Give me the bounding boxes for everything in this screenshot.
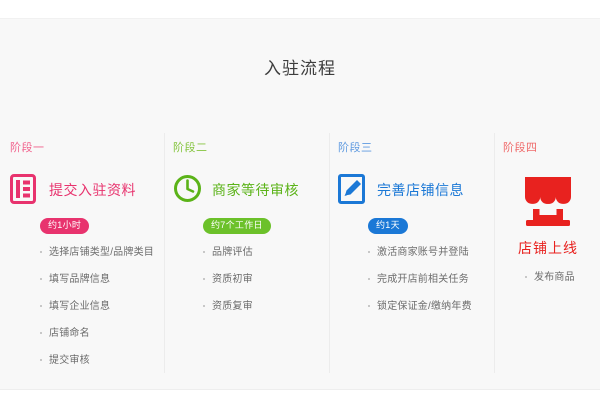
list-item: 填写企业信息 bbox=[40, 300, 164, 313]
stage-columns: 阶段一 提交入驻资料 约1小时 选择店铺类型/品牌类目 填写品牌信息 填 bbox=[0, 133, 600, 373]
stage-duration-badge-2: 约7个工作日 bbox=[203, 218, 271, 234]
page-title: 入驻流程 bbox=[0, 58, 600, 80]
stage-column-4: 阶段四 店铺上线 发布商品 bbox=[495, 133, 600, 373]
stage-column-2: 阶段二 商家等待审核 约7个工作日 品牌评估 资质初审 资质复审 bbox=[165, 133, 330, 373]
stage-column-1: 阶段一 提交入驻资料 约1小时 选择店铺类型/品牌类目 填写品牌信息 填 bbox=[0, 133, 165, 373]
stage-column-3: 阶段三 完善店铺信息 约1天 激活商家账号并登陆 完成开店前相关任务 锁定保证金… bbox=[330, 133, 495, 373]
stage-header-3: 完善店铺信息 bbox=[338, 173, 494, 207]
stage-header-2: 商家等待审核 bbox=[173, 173, 329, 207]
stage-title-2: 商家等待审核 bbox=[212, 181, 299, 199]
list-item: 激活商家账号并登陆 bbox=[368, 246, 494, 259]
list-item: 店铺命名 bbox=[40, 327, 164, 340]
stage-label-4: 阶段四 bbox=[503, 141, 600, 155]
list-item: 资质初审 bbox=[203, 273, 329, 286]
shop-icon bbox=[520, 175, 576, 229]
list-item: 填写品牌信息 bbox=[40, 273, 164, 286]
stage-task-list-4: 发布商品 bbox=[503, 271, 600, 284]
stage-label-3: 阶段三 bbox=[338, 141, 494, 155]
stage-title-4: 店铺上线 bbox=[503, 239, 593, 257]
list-item: 提交审核 bbox=[40, 354, 164, 367]
pencil-edit-icon bbox=[338, 174, 368, 206]
stage-label-2: 阶段二 bbox=[173, 141, 329, 155]
stage-header-1: 提交入驻资料 bbox=[10, 173, 164, 207]
list-item: 发布商品 bbox=[525, 271, 600, 284]
stage-task-list-3: 激活商家账号并登陆 完成开店前相关任务 锁定保证金/缴纳年费 bbox=[338, 246, 494, 313]
stage-task-list-1: 选择店铺类型/品牌类目 填写品牌信息 填写企业信息 店铺命名 提交审核 bbox=[10, 246, 164, 367]
document-icon bbox=[10, 174, 40, 206]
list-item: 选择店铺类型/品牌类目 bbox=[40, 246, 164, 259]
list-item: 完成开店前相关任务 bbox=[368, 273, 494, 286]
list-item: 锁定保证金/缴纳年费 bbox=[368, 300, 494, 313]
stage-title-3: 完善店铺信息 bbox=[377, 181, 464, 199]
list-item: 资质复审 bbox=[203, 300, 329, 313]
stage-duration-badge-1: 约1小时 bbox=[40, 218, 89, 234]
list-item: 品牌评估 bbox=[203, 246, 329, 259]
stage-task-list-2: 品牌评估 资质初审 资质复审 bbox=[173, 246, 329, 313]
clock-icon bbox=[173, 174, 203, 206]
stage-label-1: 阶段一 bbox=[10, 141, 164, 155]
shop-online-block: 店铺上线 bbox=[503, 175, 593, 257]
stage-duration-badge-3: 约1天 bbox=[368, 218, 408, 234]
stage-title-1: 提交入驻资料 bbox=[49, 181, 136, 199]
entry-process-page: 入驻流程 阶段一 提交入驻资料 约1小时 选择店铺类型/品牌类 bbox=[0, 0, 600, 400]
